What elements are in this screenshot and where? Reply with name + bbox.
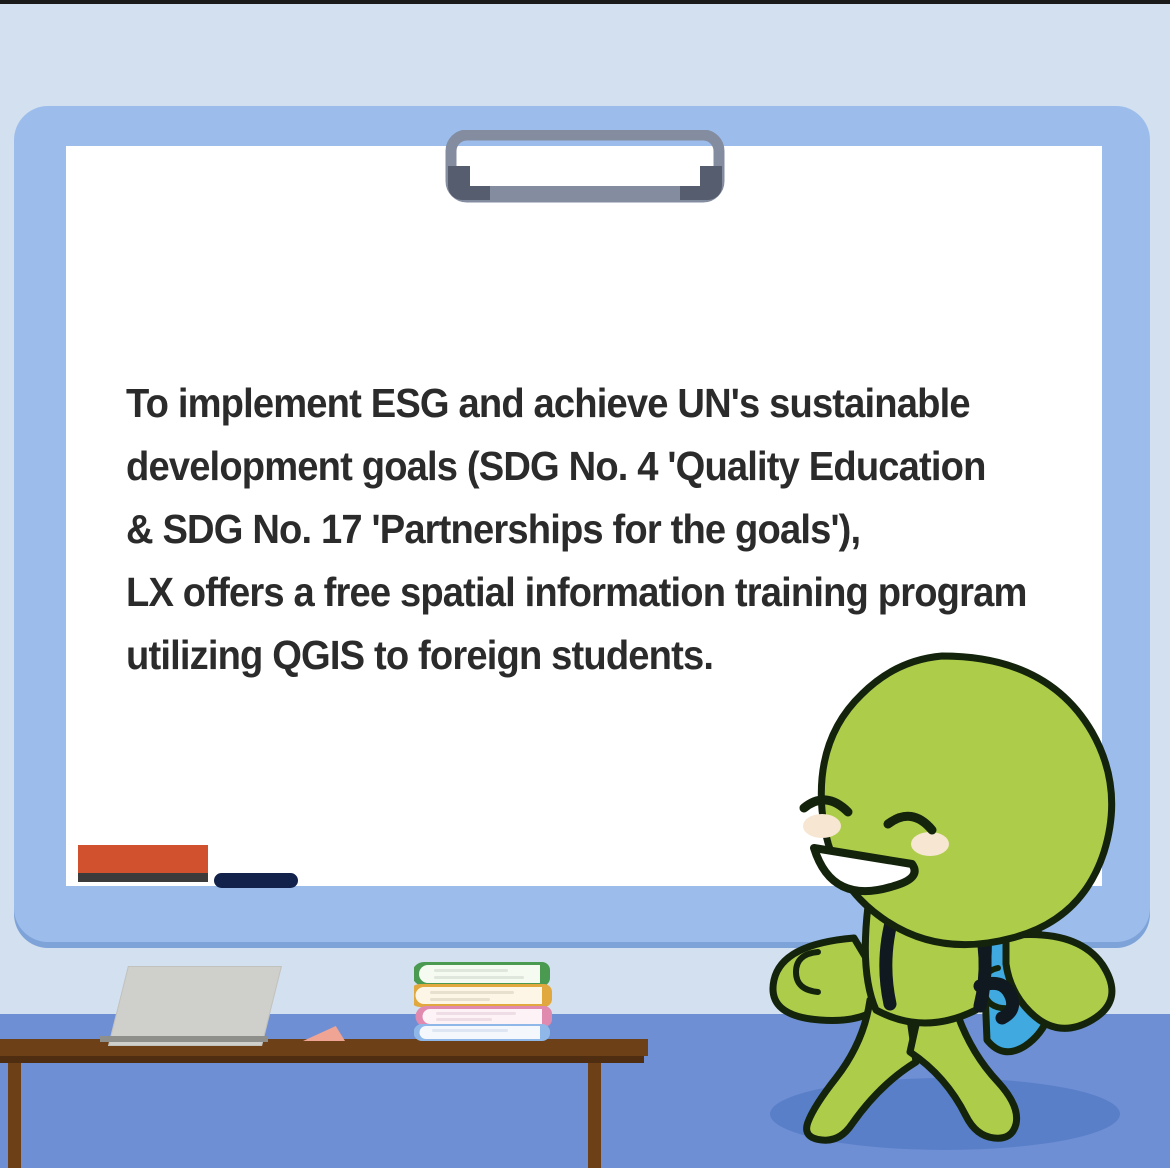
laptop-base bbox=[100, 1036, 268, 1042]
book-stack bbox=[414, 956, 556, 1042]
desk-leg-right bbox=[588, 1060, 601, 1168]
desk-top-edge bbox=[0, 1056, 644, 1063]
desk-leg-left bbox=[8, 1060, 21, 1168]
message-line-3: & SDG No. 17 'Partnerships for the goals… bbox=[126, 498, 1010, 561]
marker bbox=[214, 873, 298, 888]
top-border-line bbox=[0, 0, 1170, 4]
green-mascot-character bbox=[742, 648, 1162, 1148]
message-line-1: To implement ESG and achieve UN's sustai… bbox=[126, 372, 1010, 435]
message-line-2: development goals (SDG No. 4 'Quality Ed… bbox=[126, 435, 1010, 498]
eraser bbox=[78, 845, 208, 875]
whiteboard-message: To implement ESG and achieve UN's sustai… bbox=[126, 372, 1010, 687]
illustration-canvas: To implement ESG and achieve UN's sustai… bbox=[0, 0, 1170, 1168]
laptop-screen bbox=[108, 966, 282, 1046]
whiteboard-clip-icon bbox=[442, 130, 728, 204]
message-line-4: LX offers a free spatial information tra… bbox=[126, 561, 1010, 624]
eraser-base bbox=[78, 873, 208, 882]
